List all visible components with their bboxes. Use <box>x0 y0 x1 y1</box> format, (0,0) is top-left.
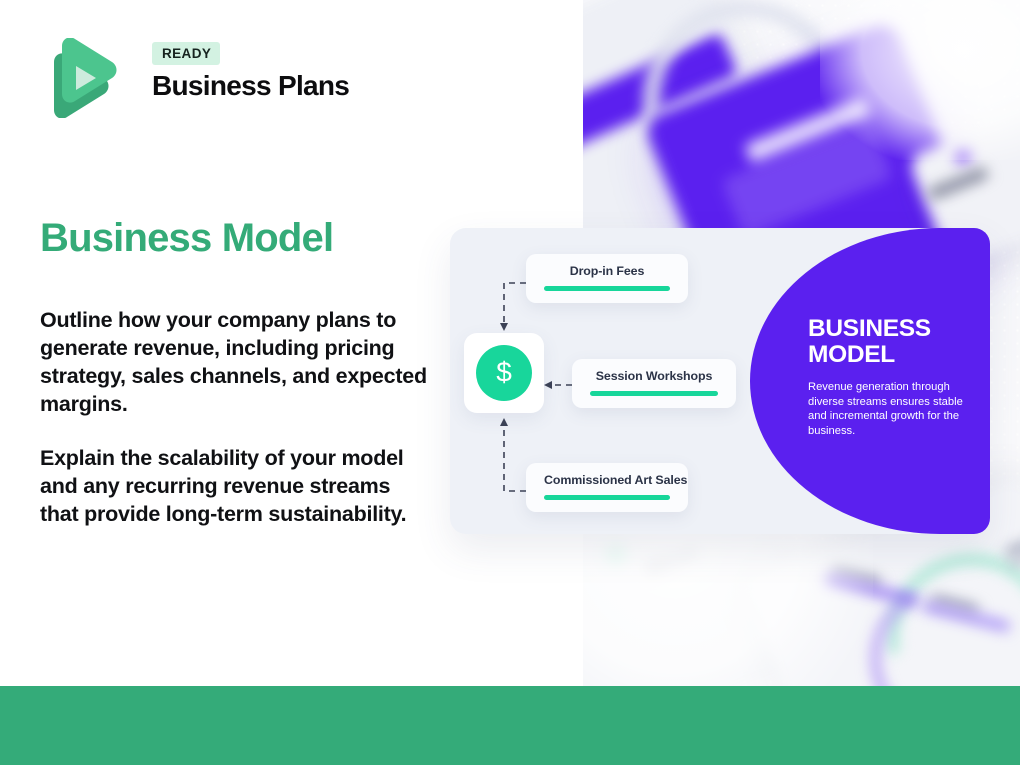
brand-name: Business Plans <box>152 70 349 102</box>
node-underline <box>544 495 670 500</box>
body-copy: Outline how your company plans to genera… <box>40 306 432 528</box>
purple-panel-content: BUSINESS MODEL Revenue generation throug… <box>808 316 980 438</box>
play-triangle-logo-icon <box>40 38 118 118</box>
slide: READY Business Plans Business Model Outl… <box>0 0 1020 765</box>
brand-text: READY Business Plans <box>152 42 349 102</box>
body-paragraph-1: Outline how your company plans to genera… <box>40 306 432 418</box>
node-label: Commissioned Art Sales <box>544 473 670 487</box>
node-label: Drop-in Fees <box>544 264 670 278</box>
node-underline <box>544 286 670 291</box>
dollar-sign-icon: $ <box>476 345 532 401</box>
node-underline <box>590 391 718 396</box>
node-drop-in-fees[interactable]: Drop-in Fees <box>526 254 688 303</box>
revenue-center-node: $ <box>464 333 544 413</box>
node-session-workshops[interactable]: Session Workshops <box>572 359 736 408</box>
svg-text:$: $ <box>496 357 512 388</box>
business-model-diagram-card: $ Drop-in Fees Session Workshops Commiss… <box>450 228 990 534</box>
ready-badge: READY <box>152 42 220 65</box>
purple-title-line-1: BUSINESS <box>808 315 931 342</box>
purple-panel-title: BUSINESS MODEL <box>808 316 980 368</box>
node-commissioned-art-sales[interactable]: Commissioned Art Sales <box>526 463 688 512</box>
body-paragraph-2: Explain the scalability of your model an… <box>40 444 432 528</box>
purple-panel-description: Revenue generation through diverse strea… <box>808 380 980 438</box>
node-label: Session Workshops <box>590 369 718 383</box>
footer-bar <box>0 686 1020 765</box>
purple-title-line-2: MODEL <box>808 341 895 368</box>
white-fade-overlay-top <box>820 0 1020 160</box>
page-title: Business Model <box>40 216 333 261</box>
purple-summary-panel: BUSINESS MODEL Revenue generation throug… <box>750 228 990 534</box>
brand-logo: READY Business Plans <box>40 38 380 120</box>
